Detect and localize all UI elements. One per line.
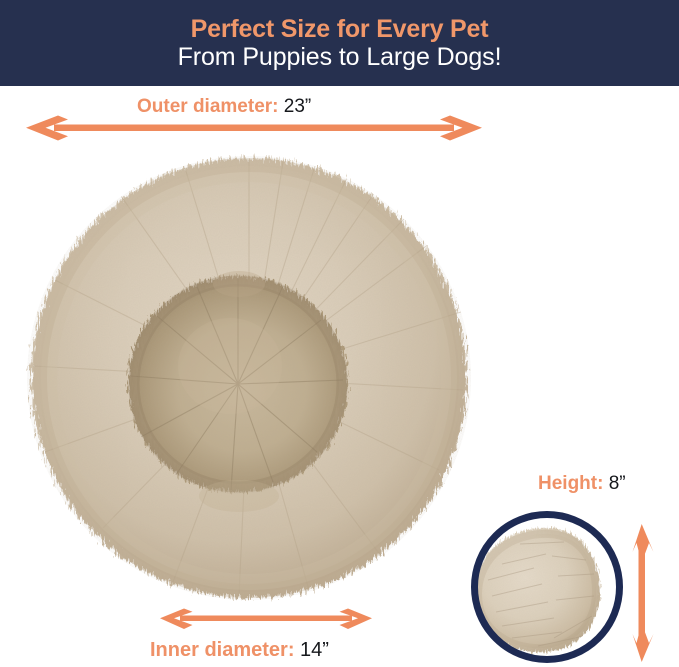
pet-bed-top-view	[25, 152, 473, 604]
height-arrow	[626, 522, 658, 664]
header-banner: Perfect Size for Every Pet From Puppies …	[0, 0, 679, 86]
outer-diameter-arrow	[24, 112, 484, 144]
height-label: Height: 8”	[538, 474, 626, 493]
height-inset	[468, 508, 628, 667]
inner-diameter-arrow	[158, 606, 374, 632]
height-key: Height:	[538, 473, 603, 494]
banner-subheadline: From Puppies to Large Dogs!	[178, 44, 502, 71]
height-value: 8”	[603, 473, 625, 494]
inner-diameter-value: 14”	[294, 639, 328, 661]
inner-diameter-label: Inner diameter: 14”	[150, 640, 329, 660]
product-size-infographic: Perfect Size for Every Pet From Puppies …	[0, 0, 679, 667]
inset-navy-ring	[471, 511, 623, 663]
banner-headline: Perfect Size for Every Pet	[191, 16, 489, 43]
inner-diameter-key: Inner diameter:	[150, 639, 294, 661]
